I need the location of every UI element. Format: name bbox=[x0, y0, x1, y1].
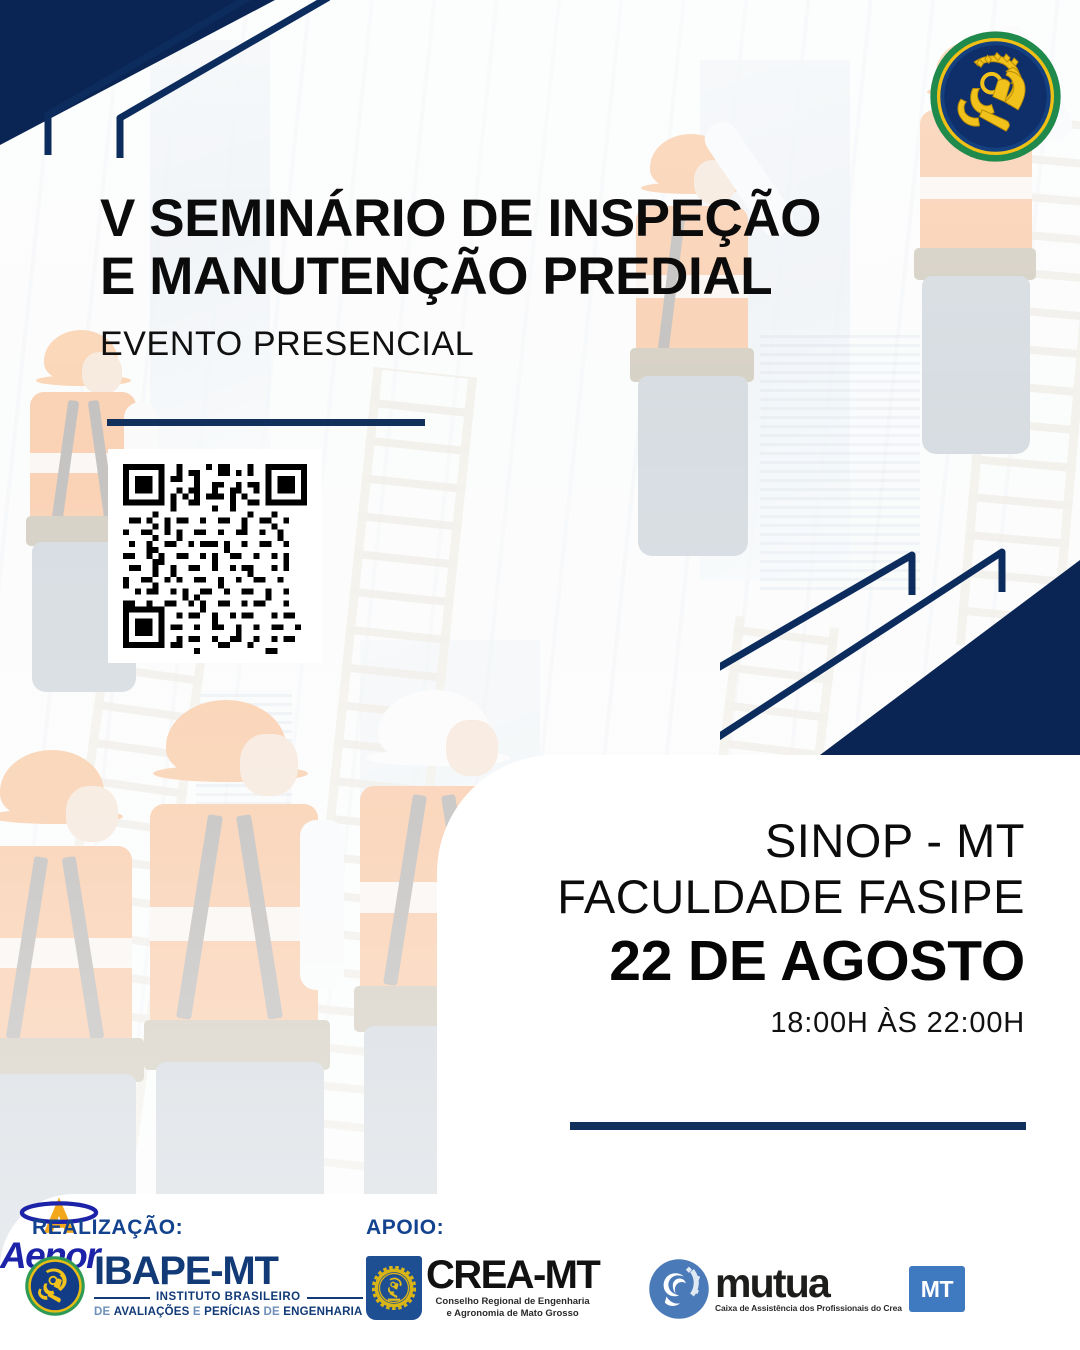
mutua-emblem-icon bbox=[648, 1258, 710, 1320]
qr-code-icon[interactable] bbox=[117, 458, 313, 654]
mutua-wordmark-block: mutua Caixa de Assistência dos Profissio… bbox=[715, 1265, 902, 1314]
event-city: SINOP - MT bbox=[557, 813, 1025, 869]
event-poster: V SEMINÁRIO DE INSPEÇÃO E MANUTENÇÃO PRE… bbox=[0, 0, 1080, 1350]
crea-wordmark: CREA-MT bbox=[426, 1256, 599, 1294]
ibape-emblem-icon bbox=[929, 30, 1062, 163]
logo-ibape-mt[interactable]: IBAPE-MT INSTITUTO BRASILEIRO DE AVALIAÇ… bbox=[24, 1252, 363, 1320]
ibape-tagline-2: DE AVALIAÇÕES E PERÍCIAS DE ENGENHARIA bbox=[94, 1305, 363, 1320]
event-subtitle: EVENTO PRESENCIAL bbox=[100, 325, 930, 364]
event-info-panel: SINOP - MT FACULDADE FASIPE 22 DE AGOSTO… bbox=[437, 755, 1080, 1200]
headline-line-1: V SEMINÁRIO DE INSPEÇÃO bbox=[100, 190, 930, 248]
qr-code[interactable] bbox=[108, 449, 322, 663]
event-venue: FACULDADE FASIPE bbox=[557, 869, 1025, 925]
mutua-wordmark: mutua bbox=[715, 1265, 902, 1302]
corner-decoration-top-left bbox=[0, 0, 330, 200]
crea-shield-icon bbox=[366, 1256, 422, 1320]
ibape-wordmark-block: IBAPE-MT INSTITUTO BRASILEIRO DE AVALIAÇ… bbox=[94, 1252, 363, 1320]
ibape-seal-icon bbox=[24, 1255, 86, 1317]
ibape-tagline-1: INSTITUTO BRASILEIRO bbox=[156, 1290, 301, 1304]
logo-mutua-mt[interactable]: mutua Caixa de Assistência dos Profissio… bbox=[648, 1258, 965, 1320]
apoio-label: APOIO: bbox=[366, 1216, 444, 1240]
event-time: 18:00H ÀS 22:00H bbox=[557, 1007, 1025, 1040]
mutua-mt-badge: MT bbox=[909, 1266, 965, 1312]
headline-block: V SEMINÁRIO DE INSPEÇÃO E MANUTENÇÃO PRE… bbox=[100, 190, 930, 364]
headline-line-2: E MANUTENÇÃO PREDIAL bbox=[100, 248, 930, 306]
divider-top bbox=[107, 419, 425, 426]
event-info-lines: SINOP - MT FACULDADE FASIPE 22 DE AGOSTO… bbox=[557, 813, 1025, 1040]
ibape-wordmark: IBAPE-MT bbox=[94, 1252, 363, 1290]
crea-wordmark-block: CREA-MT Conselho Regional de Engenharia … bbox=[426, 1256, 599, 1321]
sponsor-footer: REALIZAÇÃO: APOIO: IBAPE-MT bbox=[0, 1194, 1080, 1350]
mutua-tagline: Caixa de Assistência dos Profissionais d… bbox=[715, 1303, 902, 1313]
event-date: 22 DE AGOSTO bbox=[557, 928, 1025, 995]
divider-bottom bbox=[570, 1122, 1026, 1130]
logo-crea-mt[interactable]: CREA-MT Conselho Regional de Engenharia … bbox=[366, 1256, 599, 1321]
realizacao-label: REALIZAÇÃO: bbox=[32, 1216, 183, 1240]
crea-tagline: Conselho Regional de Engenharia e Agrono… bbox=[426, 1296, 599, 1321]
